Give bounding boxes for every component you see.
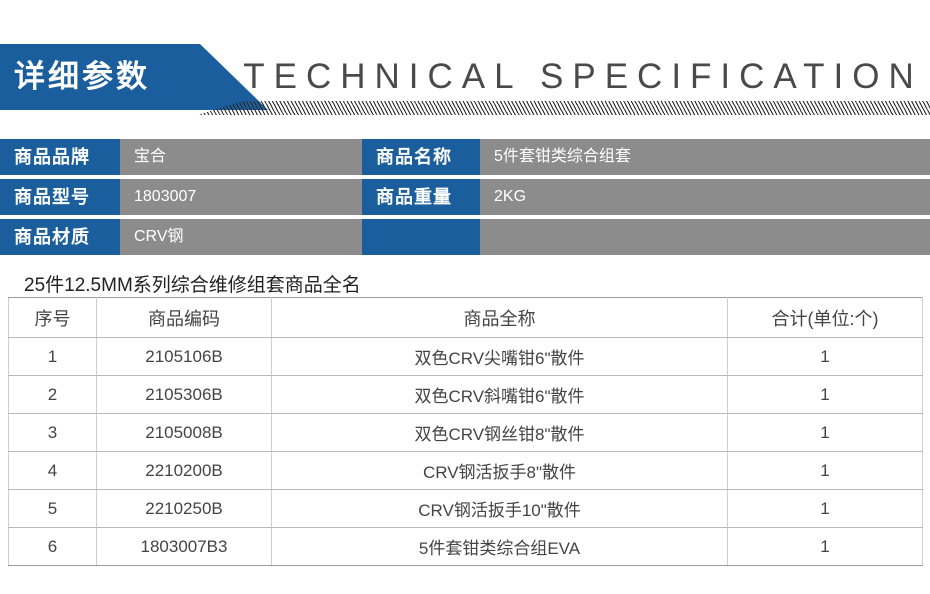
cell-code: 2210200B (97, 452, 272, 490)
spec-grid: 商品品牌 宝合 商品名称 5件套钳类综合组套 商品型号 1803007 商品重量… (0, 139, 930, 259)
cell-total: 1 (728, 490, 923, 528)
cell-fullname: 双色CRV斜嘴钳6"散件 (272, 376, 728, 414)
cell-index: 2 (9, 376, 97, 414)
spec-value-brand: 宝合 (120, 139, 362, 175)
spec-value-empty (480, 219, 930, 255)
cell-total: 1 (728, 376, 923, 414)
cell-total: 1 (728, 338, 923, 376)
cell-code: 2210250B (97, 490, 272, 528)
table-row: 5 2210250B CRV钢活扳手10"散件 1 (9, 490, 923, 528)
spec-label-brand: 商品品牌 (0, 139, 120, 175)
technical-specification-page: 详细参数 TECHNICAL SPECIFICATION 商品品牌 宝合 商品名… (0, 0, 930, 594)
cell-fullname: CRV钢活扳手8"散件 (272, 452, 728, 490)
cell-index: 4 (9, 452, 97, 490)
cell-index: 6 (9, 528, 97, 566)
cell-total: 1 (728, 528, 923, 566)
header-hatch-divider (197, 101, 930, 115)
cell-fullname: CRV钢活扳手10"散件 (272, 490, 728, 528)
column-header-index: 序号 (9, 298, 97, 338)
cell-total: 1 (728, 414, 923, 452)
spec-label-model: 商品型号 (0, 179, 120, 215)
column-header-code: 商品编码 (97, 298, 272, 338)
spec-value-material: CRV钢 (120, 219, 362, 255)
spec-label-material: 商品材质 (0, 219, 120, 255)
spec-value-weight: 2KG (480, 179, 930, 215)
cell-index: 1 (9, 338, 97, 376)
table-header-row: 序号 商品编码 商品全称 合计(单位:个) (9, 298, 923, 338)
cell-fullname: 双色CRV尖嘴钳6"散件 (272, 338, 728, 376)
cell-index: 3 (9, 414, 97, 452)
spec-label-weight: 商品重量 (362, 179, 480, 215)
cell-fullname: 双色CRV钢丝钳8"散件 (272, 414, 728, 452)
items-table: 序号 商品编码 商品全称 合计(单位:个) 1 2105106B 双色CRV尖嘴… (8, 297, 923, 566)
cell-code: 2105008B (97, 414, 272, 452)
spec-row: 商品品牌 宝合 商品名称 5件套钳类综合组套 (0, 139, 930, 175)
spec-value-model: 1803007 (120, 179, 362, 215)
column-header-total: 合计(单位:个) (728, 298, 923, 338)
spec-label-empty (362, 219, 480, 255)
spec-value-product-name: 5件套钳类综合组套 (480, 139, 930, 175)
column-header-fullname: 商品全称 (272, 298, 728, 338)
spec-row: 商品型号 1803007 商品重量 2KG (0, 179, 930, 215)
header-english-title: TECHNICAL SPECIFICATION (243, 48, 923, 106)
table-row: 4 2210200B CRV钢活扳手8"散件 1 (9, 452, 923, 490)
table-row: 1 2105106B 双色CRV尖嘴钳6"散件 1 (9, 338, 923, 376)
cell-fullname: 5件套钳类综合组EVA (272, 528, 728, 566)
cell-index: 5 (9, 490, 97, 528)
table-row: 6 1803007B3 5件套钳类综合组EVA 1 (9, 528, 923, 566)
cell-total: 1 (728, 452, 923, 490)
cell-code: 2105306B (97, 376, 272, 414)
cell-code: 1803007B3 (97, 528, 272, 566)
items-sub-title: 25件12.5MM系列综合维修组套商品全名 (24, 270, 361, 297)
spec-label-product-name: 商品名称 (362, 139, 480, 175)
table-row: 2 2105306B 双色CRV斜嘴钳6"散件 1 (9, 376, 923, 414)
header-badge-label: 详细参数 (14, 54, 204, 100)
table-row: 3 2105008B 双色CRV钢丝钳8"散件 1 (9, 414, 923, 452)
cell-code: 2105106B (97, 338, 272, 376)
spec-row: 商品材质 CRV钢 (0, 219, 930, 255)
